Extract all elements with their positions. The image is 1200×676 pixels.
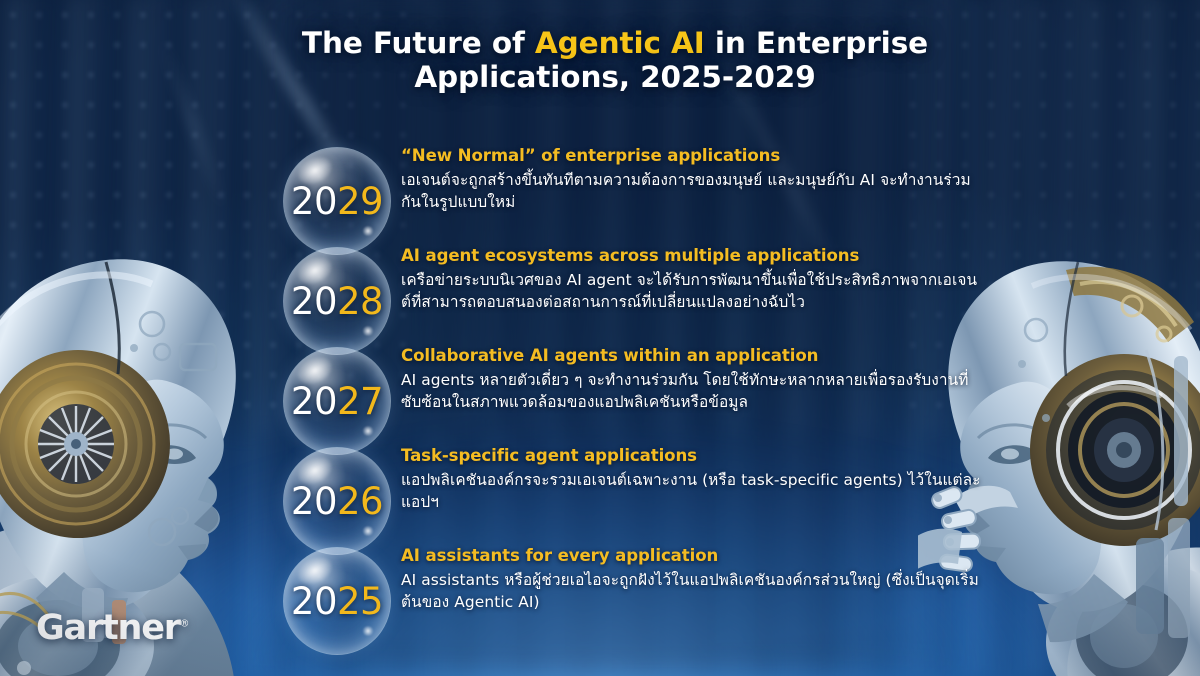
year-suffix: 25 xyxy=(337,580,383,623)
year-label-2029: 2029 xyxy=(283,147,391,255)
timeline-body: เครือข่ายระบบนิเวศของ AI agent จะได้รับก… xyxy=(401,269,981,313)
year-label-2026: 2026 xyxy=(283,447,391,555)
registered-trademark-icon: ® xyxy=(180,618,190,629)
timeline-copy-2029: “New Normal” of enterprise applications … xyxy=(401,146,981,213)
year-label-2027: 2027 xyxy=(283,347,391,455)
timeline-body: AI agents หลายตัวเดี่ยว ๆ จะทำงานร่วมกัน… xyxy=(401,369,981,413)
robot-head-left-image xyxy=(0,148,296,676)
title-accent: Agentic AI xyxy=(535,26,705,60)
timeline-copy-2028: AI agent ecosystems across multiple appl… xyxy=(401,246,981,313)
year-suffix: 27 xyxy=(337,380,383,423)
gartner-wordmark: Gartner xyxy=(36,608,180,648)
timeline-body: AI assistants หรือผู้ช่วยเอไอจะถูกฝังไว้… xyxy=(401,569,981,613)
timeline-body: แอปพลิเคชันองค์กรจะรวมเอเจนต์เฉพาะงาน (ห… xyxy=(401,469,981,513)
timeline-row-2029: 2029 “New Normal” of enterprise applicat… xyxy=(283,143,983,243)
year-prefix: 20 xyxy=(291,180,337,223)
timeline-heading: Task-specific agent applications xyxy=(401,446,981,467)
timeline-copy-2027: Collaborative AI agents within an applic… xyxy=(401,346,981,413)
timeline-row-2028: 2028 AI agent ecosystems across multiple… xyxy=(283,243,983,343)
year-prefix: 20 xyxy=(291,480,337,523)
year-prefix: 20 xyxy=(291,280,337,323)
timeline-heading: AI assistants for every application xyxy=(401,546,981,567)
year-suffix: 29 xyxy=(337,180,383,223)
year-suffix: 28 xyxy=(337,280,383,323)
timeline-heading: AI agent ecosystems across multiple appl… xyxy=(401,246,981,267)
timeline-body: เอเจนต์จะถูกสร้างขึ้นทันทีตามความต้องการ… xyxy=(401,169,981,213)
year-suffix: 26 xyxy=(337,480,383,523)
timeline-copy-2025: AI assistants for every application AI a… xyxy=(401,546,981,613)
title-line1-pre: The Future of xyxy=(302,26,535,60)
timeline-row-2027: 2027 Collaborative AI agents within an a… xyxy=(283,343,983,443)
timeline-heading: Collaborative AI agents within an applic… xyxy=(401,346,981,367)
timeline-copy-2026: Task-specific agent applications แอปพลิเ… xyxy=(401,446,981,513)
timeline-row-2025: 2025 AI assistants for every application… xyxy=(283,543,983,653)
year-prefix: 20 xyxy=(291,380,337,423)
page-title: The Future of Agentic AI in Enterprise A… xyxy=(235,26,995,94)
year-label-2028: 2028 xyxy=(283,247,391,355)
title-line1-post: in Enterprise xyxy=(705,26,928,60)
timeline-heading: “New Normal” of enterprise applications xyxy=(401,146,981,167)
year-label-2025: 2025 xyxy=(283,547,391,655)
title-line2: Applications, 2025-2029 xyxy=(414,60,815,94)
timeline-list: 2029 “New Normal” of enterprise applicat… xyxy=(283,143,983,653)
timeline-row-2026: 2026 Task-specific agent applications แอ… xyxy=(283,443,983,543)
infographic-stage: The Future of Agentic AI in Enterprise A… xyxy=(0,0,1200,676)
gartner-logo: Gartner® xyxy=(36,611,189,646)
year-prefix: 20 xyxy=(291,580,337,623)
